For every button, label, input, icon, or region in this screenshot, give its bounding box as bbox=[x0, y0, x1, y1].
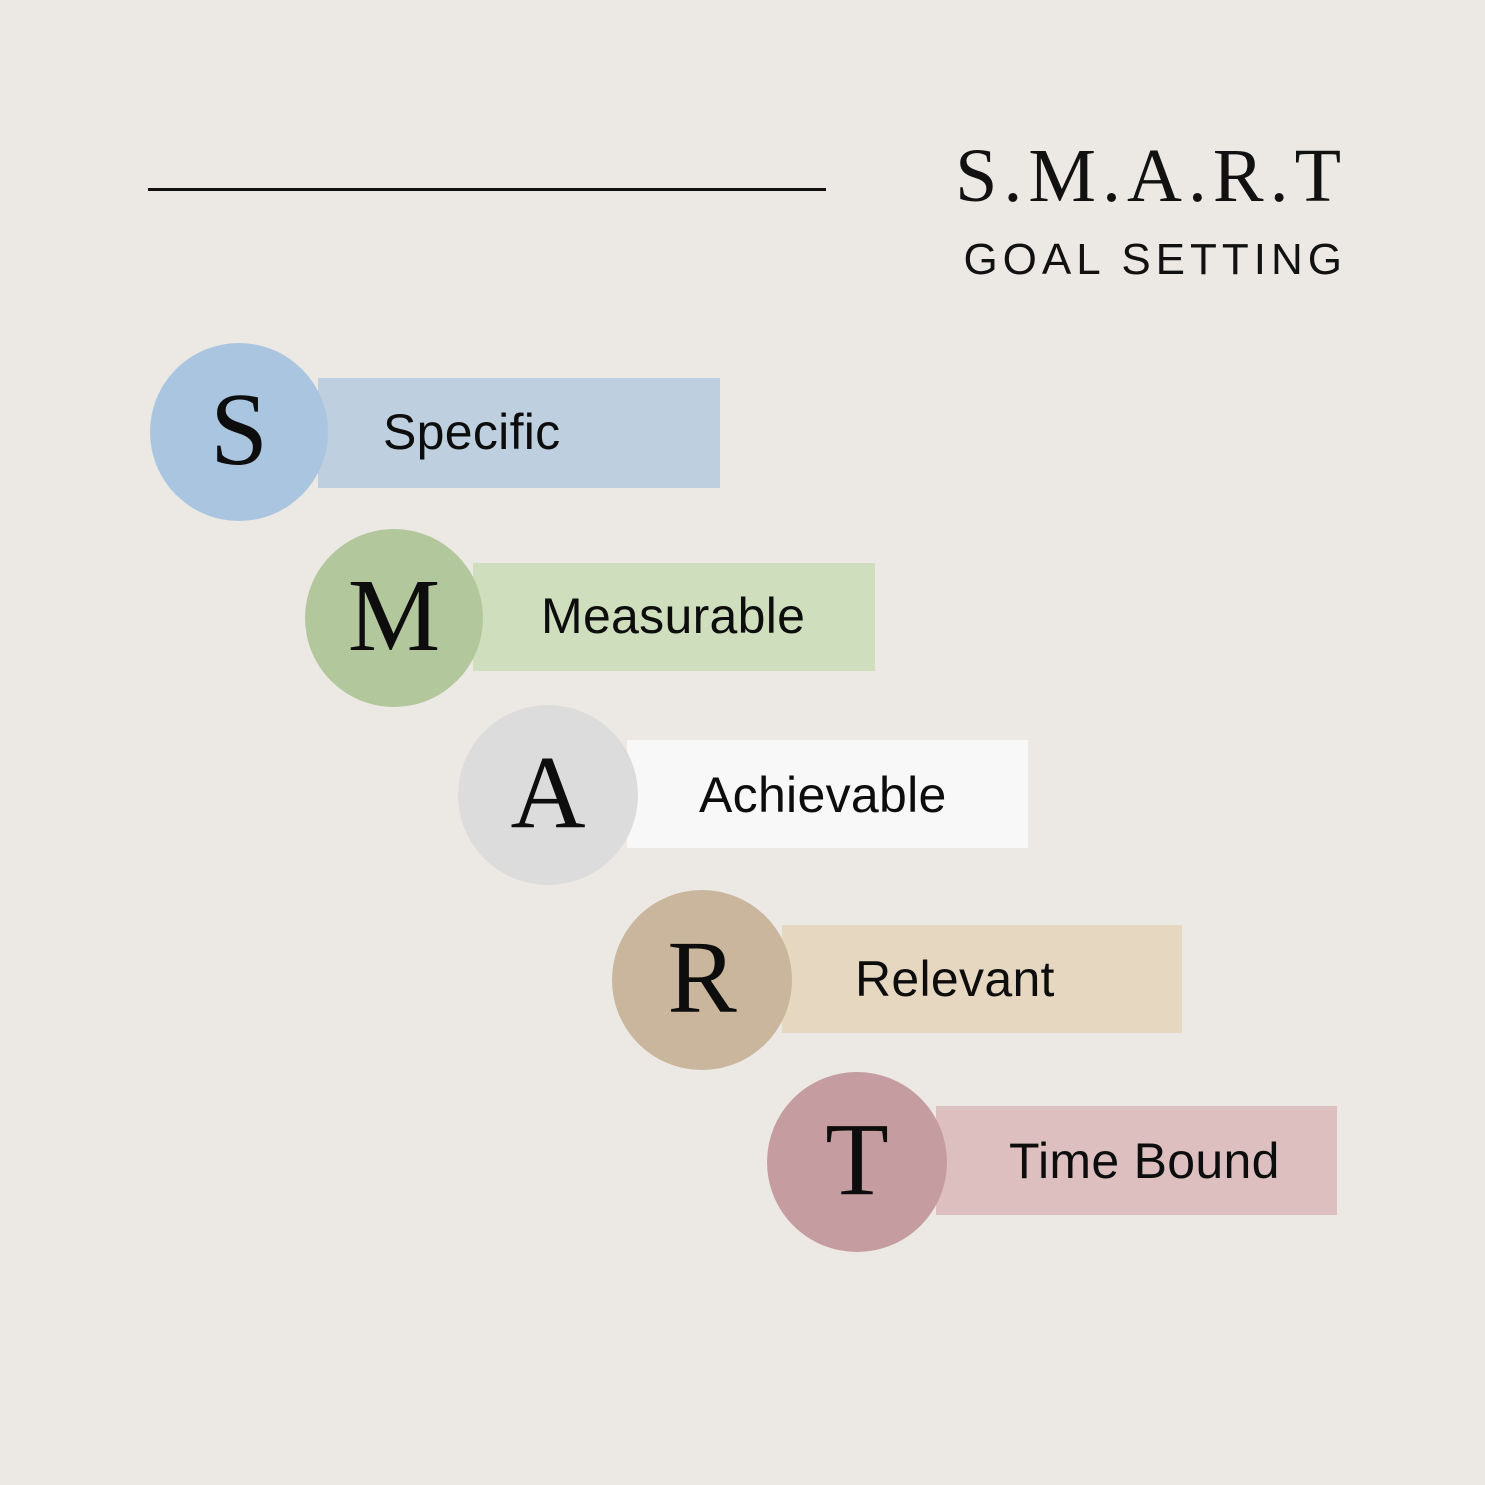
circle-achievable[interactable]: A bbox=[458, 705, 638, 885]
bar-label-achievable: Achievable bbox=[699, 770, 947, 820]
page-title: S.M.A.R.T bbox=[955, 138, 1347, 214]
circle-relevant[interactable]: R bbox=[612, 890, 792, 1070]
page-subtitle: GOAL SETTING bbox=[955, 238, 1347, 282]
header-divider-line bbox=[148, 188, 826, 191]
title-block: S.M.A.R.T GOAL SETTING bbox=[955, 138, 1347, 282]
circle-letter-s: S bbox=[210, 378, 268, 482]
circle-measurable[interactable]: M bbox=[305, 529, 483, 707]
infographic-canvas: S.M.A.R.T GOAL SETTING Specific S Measur… bbox=[0, 0, 1485, 1485]
circle-letter-a: A bbox=[510, 741, 585, 845]
bar-label-specific: Specific bbox=[383, 407, 560, 457]
circle-time-bound[interactable]: T bbox=[767, 1072, 947, 1252]
circle-specific[interactable]: S bbox=[150, 343, 328, 521]
bar-label-relevant: Relevant bbox=[855, 954, 1055, 1004]
bar-label-measurable: Measurable bbox=[541, 591, 805, 641]
circle-letter-m: M bbox=[348, 564, 440, 668]
circle-letter-r: R bbox=[667, 926, 736, 1030]
circle-letter-t: T bbox=[825, 1108, 889, 1212]
bar-label-time-bound: Time Bound bbox=[1009, 1136, 1280, 1186]
